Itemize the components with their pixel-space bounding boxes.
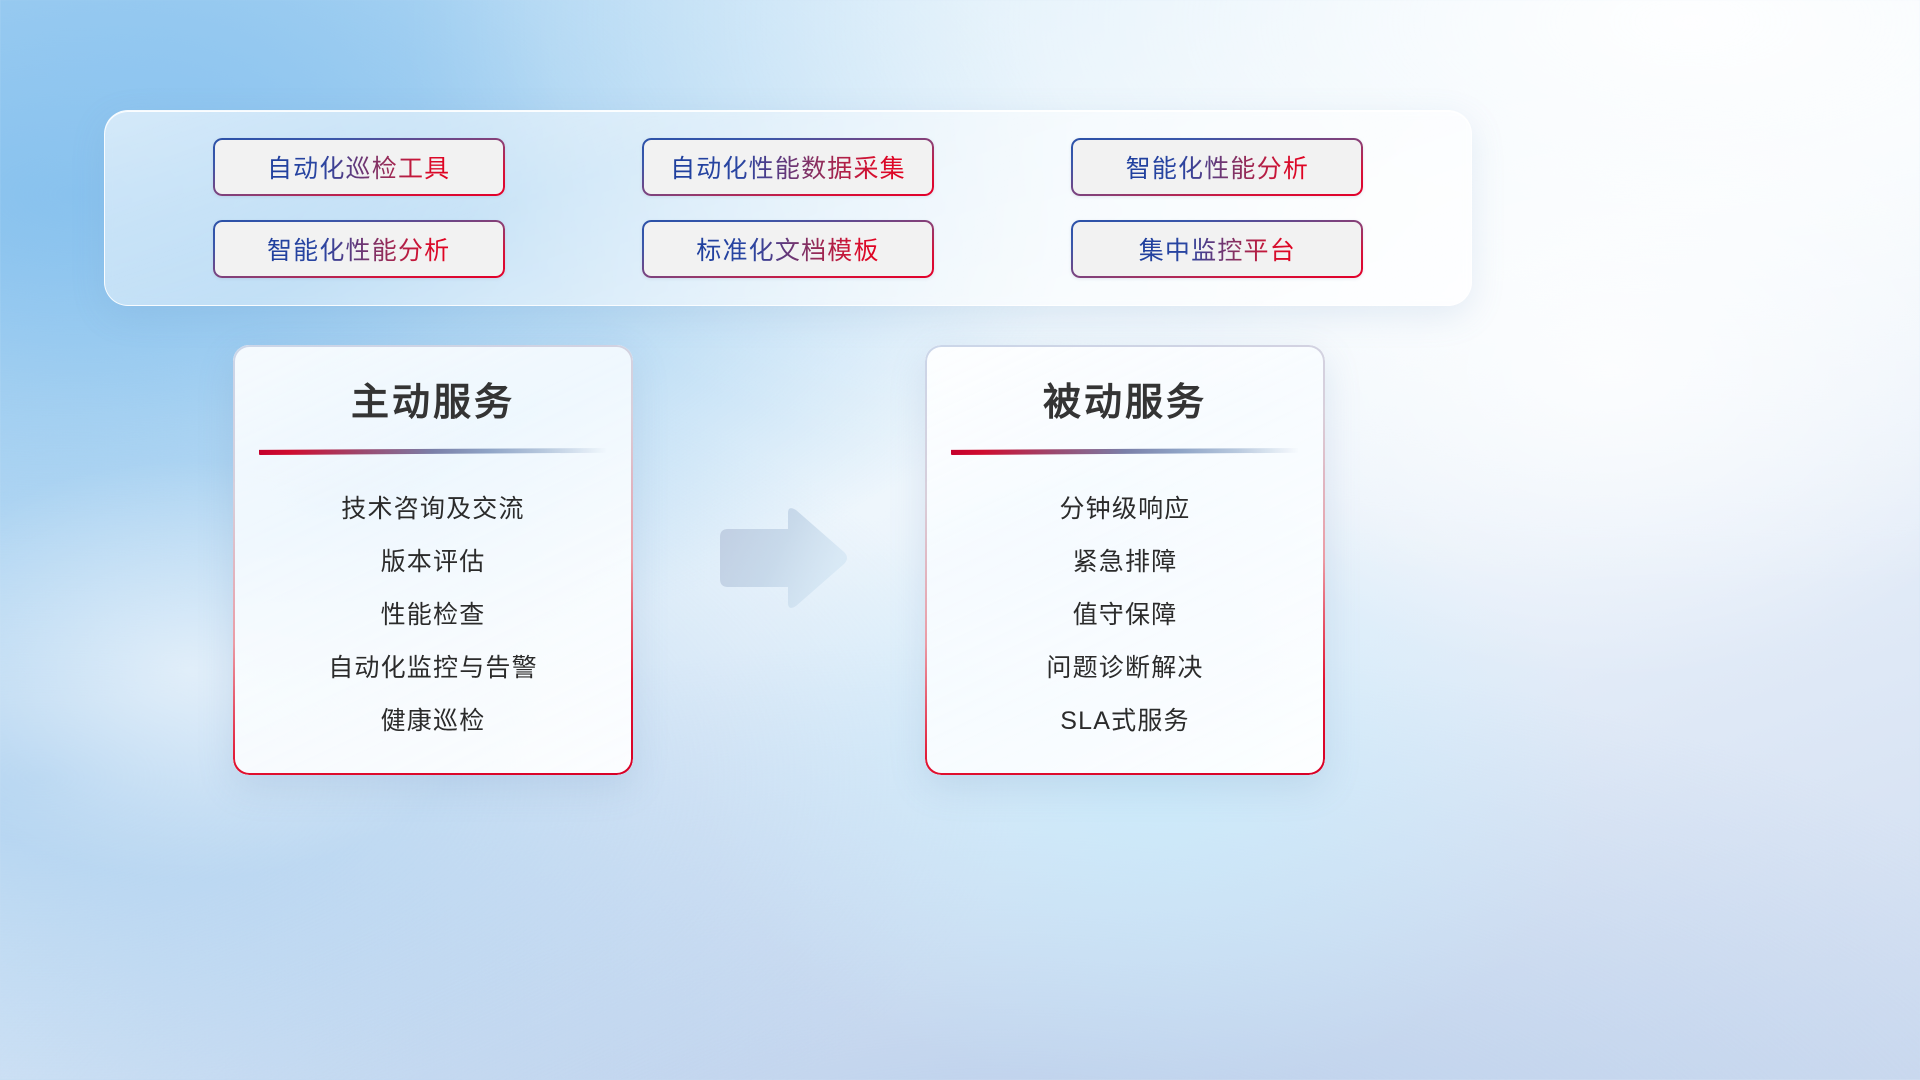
- card-divider: [951, 448, 1299, 455]
- arrow-right-icon: [710, 505, 850, 611]
- capability-tags-panel: 自动化巡检工具 自动化性能数据采集 智能化性能分析 智能化性能分析 标准化文档模…: [104, 110, 1472, 306]
- capability-tag[interactable]: 自动化性能数据采集: [642, 138, 934, 196]
- capability-tag[interactable]: 智能化性能分析: [213, 220, 505, 278]
- capability-tag-label: 集中监控平台: [1139, 231, 1296, 267]
- list-item: 健康巡检: [233, 695, 633, 748]
- capability-tag-label: 自动化性能数据采集: [670, 149, 906, 185]
- list-item: 版本评估: [233, 536, 633, 589]
- list-item: 技术咨询及交流: [233, 483, 633, 536]
- capability-tag-label: 自动化巡检工具: [267, 149, 450, 185]
- capability-tag[interactable]: 智能化性能分析: [1071, 138, 1363, 196]
- capability-tag[interactable]: 标准化文档模板: [642, 220, 934, 278]
- active-service-card: 主动服务 技术咨询及交流 版本评估 性能检查 自动化监控与告警 健康巡检: [233, 345, 633, 775]
- list-item: 分钟级响应: [925, 483, 1325, 536]
- card-title: 主动服务: [233, 371, 633, 426]
- card-item-list: 技术咨询及交流 版本评估 性能检查 自动化监控与告警 健康巡检: [233, 483, 633, 748]
- capability-tag-label: 智能化性能分析: [267, 231, 450, 267]
- list-item: 性能检查: [233, 589, 633, 642]
- list-item: SLA式服务: [925, 695, 1325, 748]
- capability-tag[interactable]: 集中监控平台: [1071, 220, 1363, 278]
- card-title: 被动服务: [925, 371, 1325, 426]
- capability-tag[interactable]: 自动化巡检工具: [213, 138, 505, 196]
- card-divider: [259, 448, 607, 455]
- capability-tag-label: 标准化文档模板: [696, 231, 879, 267]
- passive-service-card: 被动服务 分钟级响应 紧急排障 值守保障 问题诊断解决 SLA式服务: [925, 345, 1325, 775]
- card-item-list: 分钟级响应 紧急排障 值守保障 问题诊断解决 SLA式服务: [925, 483, 1325, 748]
- list-item: 值守保障: [925, 589, 1325, 642]
- list-item: 紧急排障: [925, 536, 1325, 589]
- list-item: 问题诊断解决: [925, 642, 1325, 695]
- list-item: 自动化监控与告警: [233, 642, 633, 695]
- capability-tag-label: 智能化性能分析: [1126, 149, 1309, 185]
